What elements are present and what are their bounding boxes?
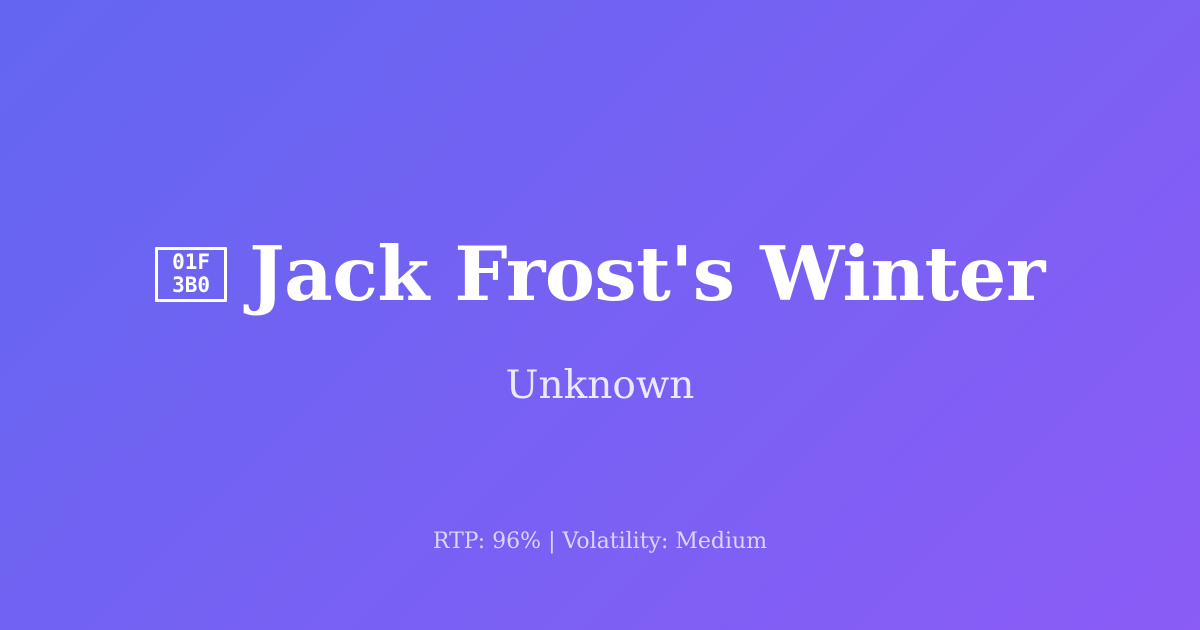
game-stats: RTP: 96% | Volatility: Medium [0, 528, 1200, 556]
slot-machine-emoji-icon: 01F 3B0 [155, 247, 227, 302]
emoji-codepoint-line1: 01F [172, 251, 210, 274]
emoji-codepoint-line2: 3B0 [172, 274, 210, 297]
title-row: 01F 3B0 Jack Frost's Winter [0, 231, 1200, 317]
provider-name: Unknown [0, 362, 1200, 410]
page-title: Jack Frost's Winter [249, 231, 1045, 317]
game-og-card: 01F 3B0 Jack Frost's Winter Unknown RTP:… [0, 0, 1200, 630]
